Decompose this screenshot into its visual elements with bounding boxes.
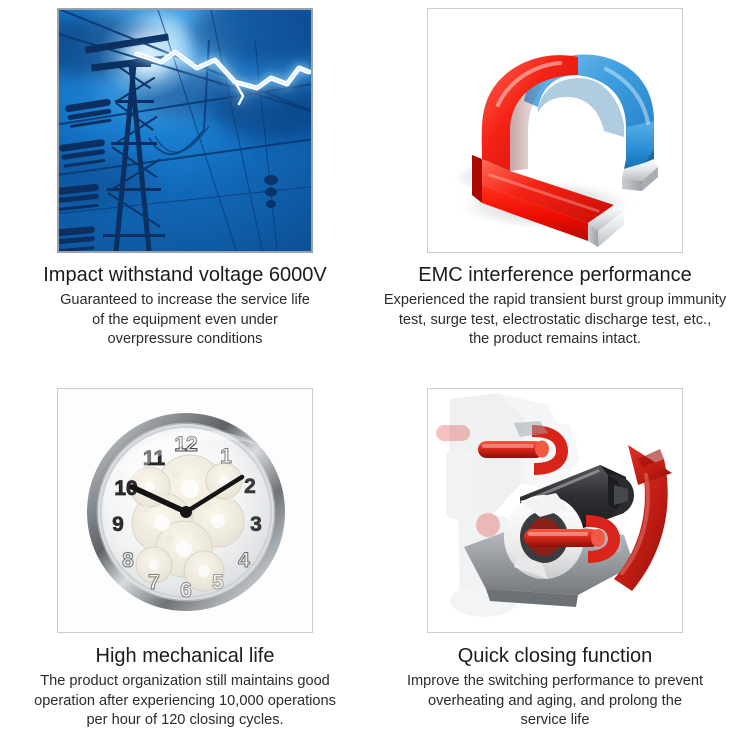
feature-grid-page: Impact withstand voltage 6000V Guarantee… [0,0,740,740]
caption-emc-interference-performance: EMC interference performance Experienced… [370,253,740,350]
panel-heading: Impact withstand voltage 6000V [8,262,362,288]
body-line: of the equipment even under [8,311,362,331]
tower-rung [103,234,165,237]
panel-body: The product organization still maintains… [8,672,362,731]
svg-text:7: 7 [148,571,160,594]
body-line: overpressure conditions [8,330,362,350]
panel-body: Improve the switching performance to pre… [378,672,732,731]
lightning-bolt [131,38,311,106]
body-line: service life [378,711,732,731]
feature-panel-high-mechanical-life: 12 1 2 3 4 5 6 7 8 9 10 11 [0,370,370,740]
red-shaft-upper [478,441,549,459]
feature-panel-quick-closing-function: Quick closing function Improve the switc… [370,370,740,740]
magnet-graphic [428,9,682,252]
panel-heading: Quick closing function [378,643,732,669]
far-insulator-icon [257,172,297,220]
body-line: Experienced the rapid transient burst gr… [378,291,732,311]
body-line: per hour of 120 closing cycles. [8,711,362,731]
body-line: test, surge test, electrostatic discharg… [378,311,732,331]
mechanism-graphic [428,389,682,632]
body-line: The product organization still maintains… [8,672,362,692]
svg-text:9: 9 [112,513,124,536]
body-line: Improve the switching performance to pre… [378,672,732,692]
svg-text:1: 1 [220,445,232,468]
svg-text:8: 8 [122,549,134,572]
body-line: operation after experiencing 10,000 oper… [8,692,362,712]
svg-text:4: 4 [238,549,250,572]
horseshoe-magnet-illustration [427,8,683,253]
panel-body: Experienced the rapid transient burst gr… [378,291,732,350]
clock-graphic: 12 1 2 3 4 5 6 7 8 9 10 11 [58,389,312,632]
feature-panel-impact-withstand-voltage: Impact withstand voltage 6000V Guarantee… [0,0,370,370]
caption-high-mechanical-life: High mechanical life The product organiz… [0,633,370,731]
rotation-arrow [614,445,672,591]
lightning-transmission-tower-photo [57,8,313,253]
svg-text:2: 2 [244,475,256,498]
panel-body: Guaranteed to increase the service life … [8,291,362,350]
svg-text:3: 3 [250,513,262,536]
body-line: Guaranteed to increase the service life [8,291,362,311]
red-shaft-lower [524,529,605,547]
feature-grid: Impact withstand voltage 6000V Guarantee… [0,0,740,740]
gear-wall-clock-photo: 12 1 2 3 4 5 6 7 8 9 10 11 [57,388,313,633]
panel-heading: EMC interference performance [378,262,732,288]
body-line: overheating and aging, and prolong the [378,692,732,712]
panel-heading: High mechanical life [8,643,362,669]
body-line: the product remains intact. [378,330,732,350]
feature-panel-emc-interference-performance: EMC interference performance Experienced… [370,0,740,370]
caption-quick-closing-function: Quick closing function Improve the switc… [370,633,740,731]
caption-impact-withstand-voltage: Impact withstand voltage 6000V Guarantee… [0,253,370,350]
switch-mechanism-render [427,388,683,633]
